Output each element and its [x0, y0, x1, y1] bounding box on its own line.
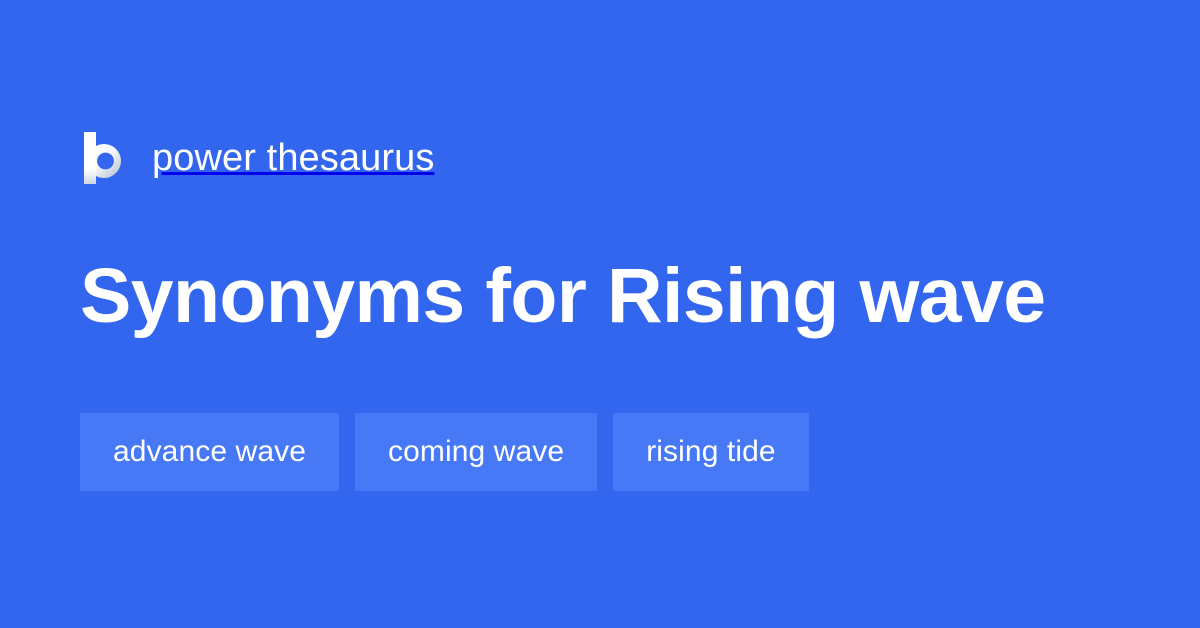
power-thesaurus-b-logo-icon [80, 132, 124, 184]
synonym-chip[interactable]: coming wave [355, 413, 597, 491]
synonym-chip-label: rising tide [646, 437, 776, 467]
synonym-chip-label: coming wave [388, 437, 564, 467]
synonym-chip-label: advance wave [113, 437, 306, 467]
brand-logo-link[interactable]: power thesaurus [80, 128, 434, 188]
page-title: Synonyms for Rising wave [80, 250, 1130, 342]
brand-name: power thesaurus [152, 139, 434, 177]
open-graph-card: power thesaurus Synonyms for Rising wave… [0, 0, 1200, 628]
synonym-chip[interactable]: advance wave [80, 413, 339, 491]
synonym-chip[interactable]: rising tide [613, 413, 809, 491]
synonym-chip-list: advance wave coming wave rising tide [80, 413, 809, 491]
